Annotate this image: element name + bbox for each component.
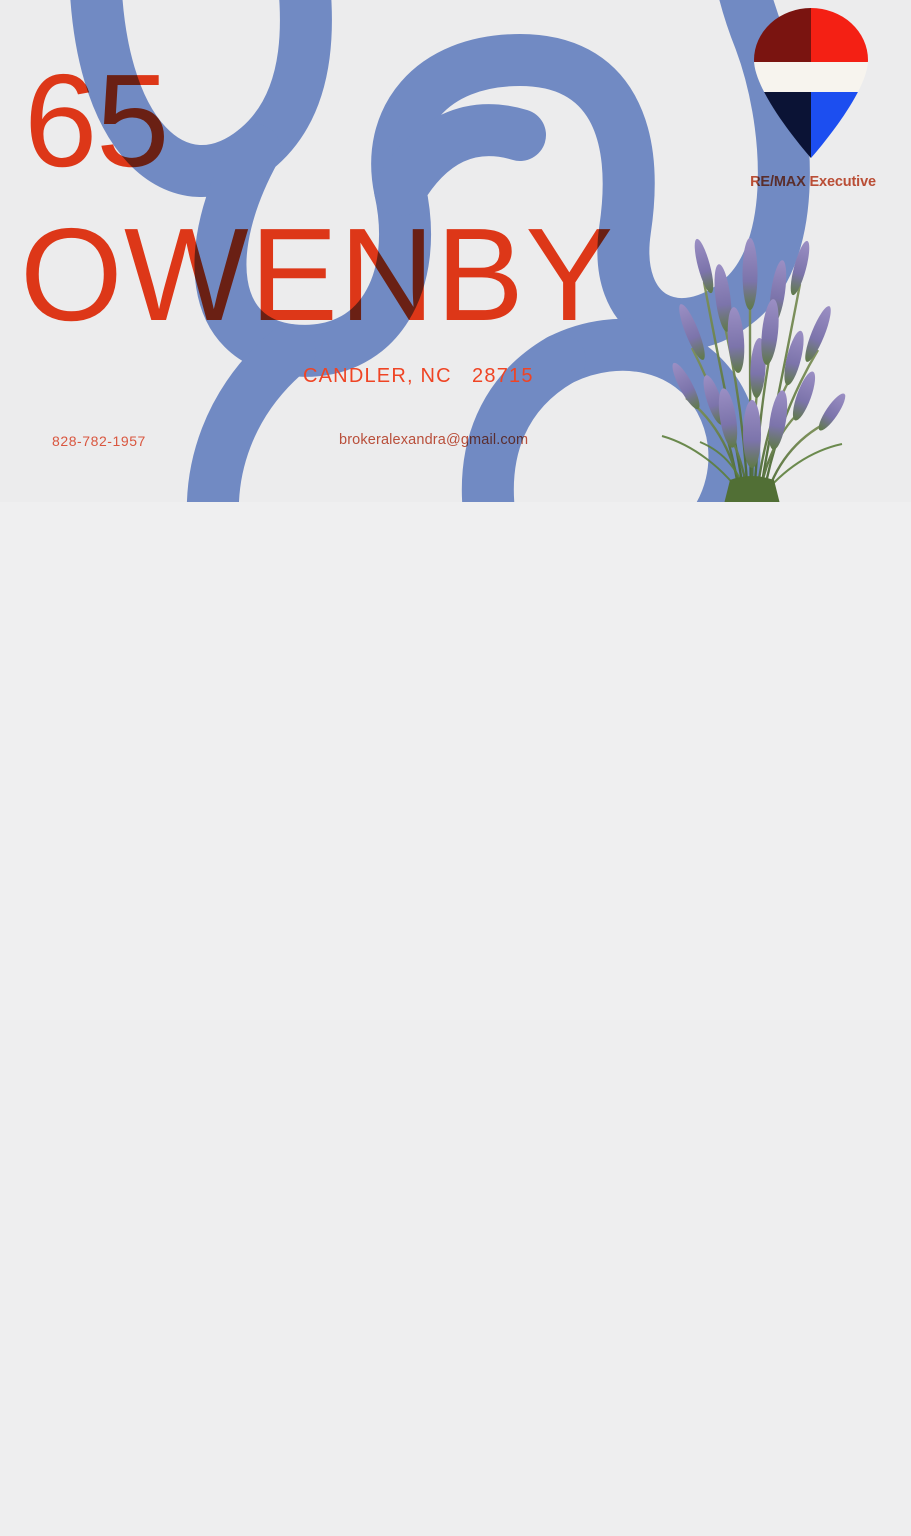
hero-section: RE/MAX Executive 65 OWENBY CANDLER, NC 2…: [0, 0, 911, 502]
email-address[interactable]: brokeralexandra@gmail.com: [339, 432, 528, 448]
phone-number[interactable]: 828-782-1957: [52, 433, 146, 449]
street-number: 65: [24, 62, 168, 181]
address-line: CANDLER, NC 28715: [303, 365, 534, 388]
remax-balloon-icon: [748, 8, 874, 158]
lavender-bouquet-image: [628, 222, 878, 502]
executive-summary-section: RM6 Zoned Development Opportunity Creek-…: [0, 502, 911, 1020]
brokerage-label: RE/MAX Executive: [738, 174, 888, 190]
location-section: THE: [0, 1020, 911, 1536]
street-name: OWENBY: [20, 216, 615, 335]
